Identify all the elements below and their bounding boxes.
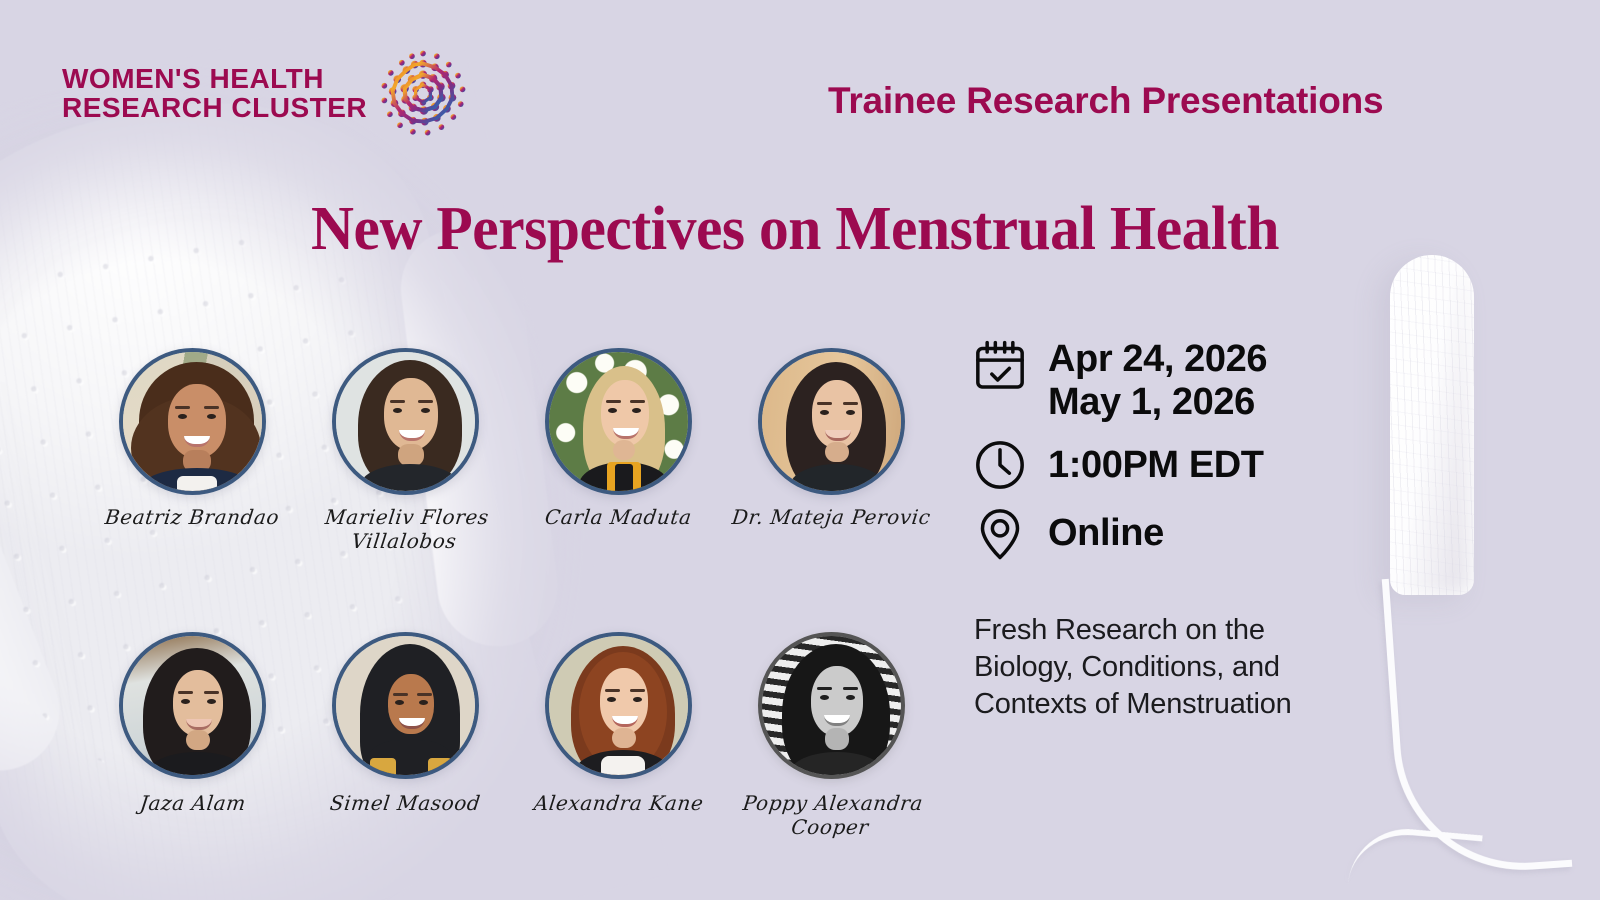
event-date-row: Apr 24, 2026 May 1, 2026 — [972, 338, 1442, 423]
presenter-card: Marieliv Flores Villalobos — [299, 348, 512, 553]
presenter-card: Simel Masood — [299, 632, 512, 839]
presenter-card: Carla Maduta — [512, 348, 725, 553]
event-time-row: 1:00PM EDT — [972, 437, 1442, 493]
avatar — [758, 348, 905, 495]
presenter-name: Marieliv Flores Villalobos — [296, 506, 515, 553]
logo-wordmark: WOMEN'S HEALTH RESEARCH CLUSTER — [62, 65, 367, 122]
event-details: Apr 24, 2026 May 1, 2026 1:00PM EDT Onli… — [972, 338, 1442, 561]
circular-dot-mandala-icon — [377, 48, 469, 140]
avatar — [545, 632, 692, 779]
avatar — [119, 632, 266, 779]
event-date-value: Apr 24, 2026 May 1, 2026 — [1048, 338, 1267, 423]
presenter-name: Simel Masood — [329, 792, 482, 816]
presenter-card: Dr. Mateja Perovic — [725, 348, 938, 553]
map-pin-icon — [972, 505, 1028, 561]
event-kicker: Trainee Research Presentations — [828, 80, 1383, 122]
presenter-card: Jaza Alam — [86, 632, 299, 839]
presenter-row: Jaza Alam Simel Masood — [86, 632, 946, 839]
page-title: New Perspectives on Menstrual Health — [32, 194, 1558, 265]
presenter-name: Jaza Alam — [138, 792, 247, 816]
presenter-row: Beatriz Brandao Marieliv Flores Villalob… — [86, 348, 946, 553]
avatar — [758, 632, 905, 779]
presenter-card: Alexandra Kane — [512, 632, 725, 839]
presenter-card: Beatriz Brandao — [86, 348, 299, 553]
presenter-name: Beatriz Brandao — [104, 506, 281, 530]
logo-line-2: RESEARCH CLUSTER — [62, 94, 367, 123]
logo-line-1: WOMEN'S HEALTH — [62, 65, 367, 94]
event-description: Fresh Research on the Biology, Condition… — [974, 612, 1404, 723]
avatar — [332, 632, 479, 779]
calendar-check-icon — [972, 338, 1028, 394]
avatar — [332, 348, 479, 495]
presenter-name: Alexandra Kane — [532, 792, 704, 816]
organization-logo: WOMEN'S HEALTH RESEARCH CLUSTER — [62, 48, 469, 140]
avatar — [119, 348, 266, 495]
event-location-value: Online — [1048, 512, 1164, 555]
event-time-value: 1:00PM EDT — [1048, 444, 1264, 487]
presenter-grid: Beatriz Brandao Marieliv Flores Villalob… — [86, 348, 946, 839]
event-location-row: Online — [972, 505, 1442, 561]
presenter-card: Poppy Alexandra Cooper — [725, 632, 938, 839]
presenter-name: Dr. Mateja Perovic — [731, 506, 932, 530]
avatar — [545, 348, 692, 495]
clock-icon — [972, 437, 1028, 493]
presenter-name: Carla Maduta — [544, 506, 694, 530]
presenter-name: Poppy Alexandra Cooper — [722, 792, 941, 839]
poster-canvas: WOMEN'S HEALTH RESEARCH CLUSTER — [0, 0, 1600, 900]
